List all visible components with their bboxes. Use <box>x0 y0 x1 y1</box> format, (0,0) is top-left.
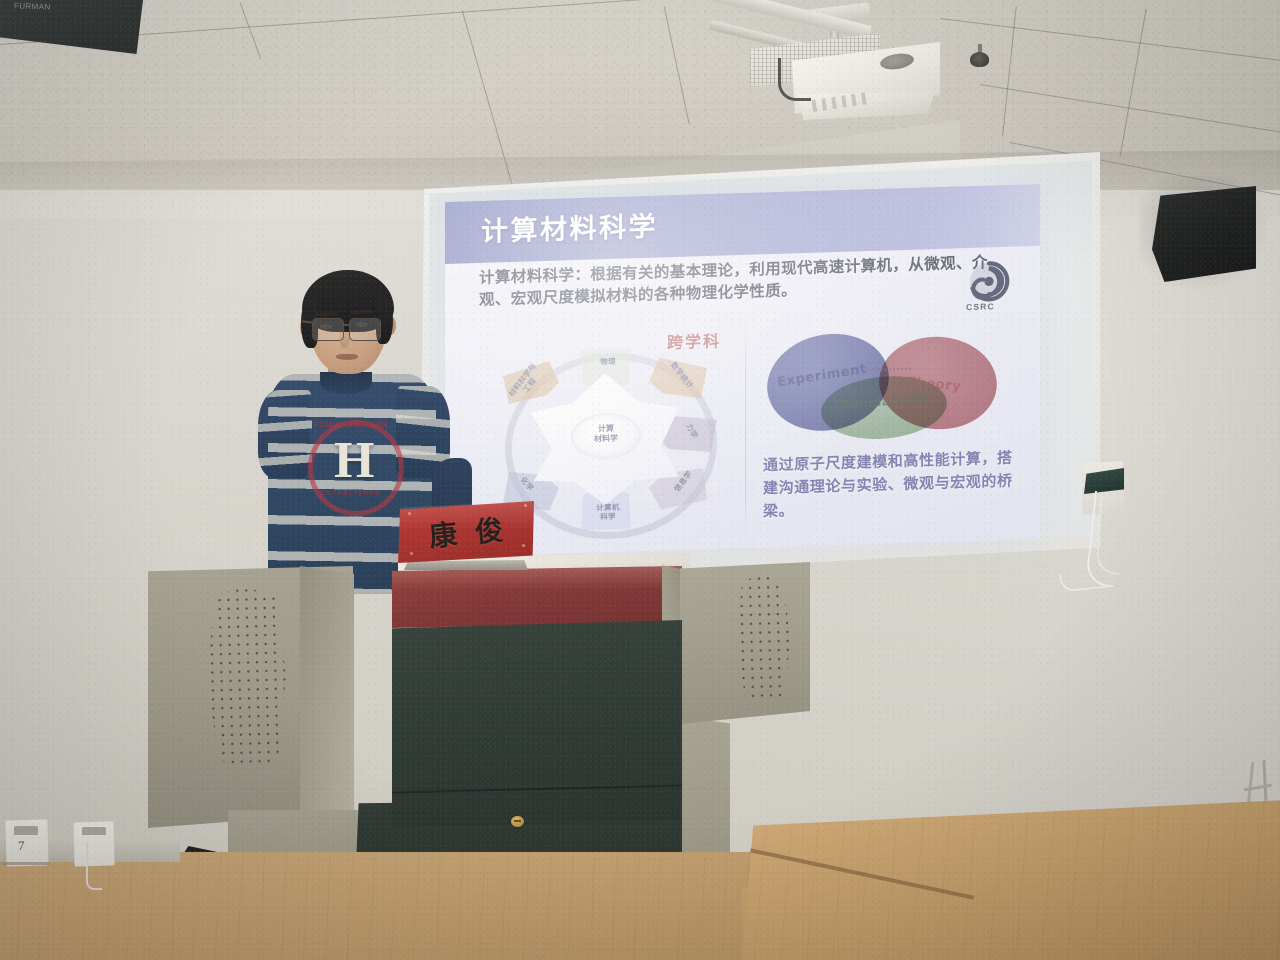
diagram-center-label: 计算 材料学 <box>574 423 638 445</box>
csrc-logo-text: CSRC <box>966 301 995 312</box>
projector-power-cable <box>778 58 811 101</box>
wall-plate-number: 7 <box>18 838 25 854</box>
diagram-arm-top: 物理 <box>583 356 633 367</box>
speaker-brand-label: FURMAN <box>14 1 51 11</box>
wall-plate-cable <box>86 842 102 890</box>
slide-caption-text: 通过原子尺度建模和高性能计算，搭建沟通理论与实验、微观与宏观的桥梁。 <box>763 447 1013 523</box>
shirt-stripe-pattern-left-sleeve <box>258 390 312 480</box>
fire-sprinkler-icon <box>970 52 989 67</box>
eyeglasses-bridge <box>342 324 350 326</box>
diagram-arm-bottom: 计算机 科学 <box>581 502 635 522</box>
presenter-mouth <box>336 354 358 360</box>
shirt-brand-bottom-text: ESTABLISHED <box>308 490 394 497</box>
wall-plate-underline <box>2 862 50 865</box>
wall-plate-slot <box>14 826 38 835</box>
diagram-arm-bottom-line1: 计算机 <box>596 503 619 513</box>
shirt-collar <box>320 372 372 394</box>
wall-speaker-right <box>1152 186 1256 282</box>
csrc-logo <box>965 259 1013 306</box>
presenter-nose <box>339 328 350 348</box>
placard-name-char-1: 康 <box>427 513 459 556</box>
podium-speaker-grille-left <box>206 585 289 771</box>
diagram-arm-bottom-line2: 科学 <box>600 512 616 521</box>
venn-diagram: Experiment Theory Simulations <box>761 325 1011 451</box>
eyeglasses-lens-right <box>349 318 381 341</box>
slide-column-divider <box>745 321 746 536</box>
diagram-center-line2: 材料学 <box>594 434 618 444</box>
podium-speaker-grille-right <box>736 573 791 704</box>
wall-plate-slot <box>82 827 106 835</box>
slide-title: 计算材料科学 <box>481 205 658 249</box>
diagram-center-line1: 计算 <box>598 424 614 433</box>
placard-name-char-2: 俊 <box>473 509 505 552</box>
projected-slide: 计算材料科学 计算材料科学：根据有关的基本理论，利用现代高速计算机，从微观、介观… <box>445 184 1040 557</box>
shirt-monogram: H <box>334 438 372 486</box>
placard-screw <box>408 512 411 515</box>
classroom-presentation-photo: FURMAN Panasonic ActivWall FINE INTERACT… <box>0 0 1280 960</box>
podium-front-panel <box>392 620 682 828</box>
podium-side-panel-left-bevel <box>300 566 354 828</box>
podium-lock-keyhole <box>514 820 521 822</box>
shirt-brand-top-text: TOMMY HILFIGER <box>308 422 394 429</box>
